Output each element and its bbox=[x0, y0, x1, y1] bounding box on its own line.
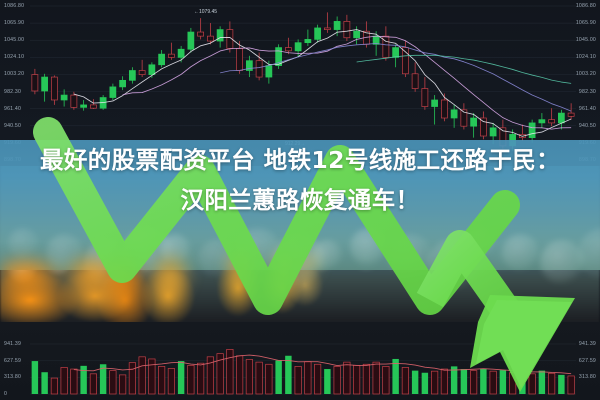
banner-image: 1086.801065.901045.001024.101003.20982.3… bbox=[0, 0, 600, 400]
headline-line-2: 汉阳兰蕙路恢复通车！ bbox=[0, 180, 600, 220]
axis-tick-label: 940.50 bbox=[4, 123, 21, 129]
axis-tick-label: 1045.00 bbox=[4, 37, 24, 43]
axis-tick-label: 941.39 bbox=[4, 341, 21, 347]
axis-tick-label: 1065.90 bbox=[4, 20, 24, 26]
axis-tick-label: 961.40 bbox=[579, 106, 596, 112]
axis-tick-label: 1024.10 bbox=[576, 54, 596, 60]
axis-tick-label: 313.80 bbox=[4, 374, 21, 380]
axis-tick-label: 982.30 bbox=[579, 89, 596, 95]
axis-tick-label: 961.40 bbox=[4, 106, 21, 112]
axis-tick-label: 627.59 bbox=[4, 358, 21, 364]
axis-tick-label: 1086.80 bbox=[4, 3, 24, 9]
axis-tick-label: 627.59 bbox=[579, 358, 596, 364]
axis-tick-label: 1086.80 bbox=[576, 3, 596, 9]
axis-tick-label: 1045.00 bbox=[576, 37, 596, 43]
axis-tick-label: 0 bbox=[4, 391, 7, 397]
headline: 最好的股票配资平台 地铁12号线施工还路于民： 汉阳兰蕙路恢复通车！ bbox=[0, 140, 600, 220]
axis-tick-label: 941.39 bbox=[579, 341, 596, 347]
headline-band: 最好的股票配资平台 地铁12号线施工还路于民： 汉阳兰蕙路恢复通车！ bbox=[0, 140, 600, 270]
high-marker: ←1079.45 bbox=[194, 9, 217, 15]
axis-tick-label: 1065.90 bbox=[576, 20, 596, 26]
axis-tick-label: 940.50 bbox=[579, 123, 596, 129]
axis-tick-label: 982.30 bbox=[4, 89, 21, 95]
axis-tick-label: 1003.20 bbox=[4, 71, 24, 77]
axis-tick-label: 313.80 bbox=[579, 374, 596, 380]
axis-tick-label: 1024.10 bbox=[4, 54, 24, 60]
axis-tick-label: 1003.20 bbox=[576, 71, 596, 77]
headline-line-1: 最好的股票配资平台 地铁12号线施工还路于民： bbox=[0, 140, 600, 180]
